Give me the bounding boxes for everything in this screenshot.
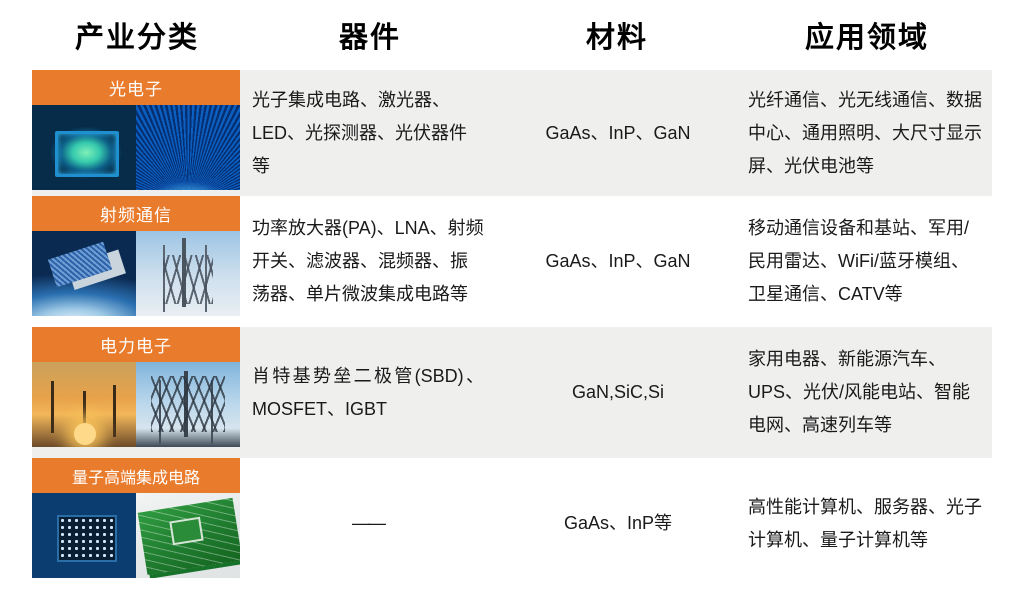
category-card: 射频通信 xyxy=(32,196,240,316)
column-header-industry-category: 产业分类 xyxy=(32,0,242,70)
cell-device: —— xyxy=(252,458,484,589)
category-card: 电力电子 xyxy=(32,327,240,447)
category-card: 量子高端集成电路 xyxy=(32,458,240,578)
wind-turbine-sunset-photo xyxy=(32,362,136,447)
category-banner-label: 电力电子 xyxy=(32,327,240,362)
cell-application: 家用电器、新能源汽车、UPS、光伏/风能电站、智能电网、高速列车等 xyxy=(748,327,986,458)
bga-chip-photo xyxy=(32,493,136,578)
cell-material: GaAs、InP等 xyxy=(498,458,738,589)
power-pylon-photo xyxy=(136,362,240,447)
cell-tower-photo xyxy=(136,231,240,316)
table-header-row: 产业分类 器件 材料 应用领域 xyxy=(0,0,1024,70)
cell-application: 高性能计算机、服务器、光子计算机、量子计算机等 xyxy=(748,458,986,589)
category-photo-pair xyxy=(32,362,240,447)
cell-device: 肖特基势垒二极管(SBD)、MOSFET、IGBT xyxy=(252,327,484,458)
category-photo-pair xyxy=(32,105,240,190)
category-photo-pair xyxy=(32,231,240,316)
cell-material: GaAs、InP、GaN xyxy=(498,196,738,327)
blue-circuit-chip-photo xyxy=(32,105,136,190)
category-banner-label: 射频通信 xyxy=(32,196,240,231)
green-pcb-photo xyxy=(136,493,240,578)
cell-application: 光纤通信、光无线通信、数据中心、通用照明、大尺寸显示屏、光伏电池等 xyxy=(748,70,986,196)
table-row: 电力电子 肖特基势垒二极管(SBD)、MOSFET、IGBT GaN,SiC,S… xyxy=(0,327,1024,458)
category-banner-label: 光电子 xyxy=(32,70,240,105)
table-row: 光电子 光子集成电路、激光器、LED、光探测器、光伏器件等 GaAs、InP、G… xyxy=(0,70,1024,196)
table-row: 射频通信 功率放大器(PA)、LNA、射频开关、滤波器、混频器、振荡器、单片微波… xyxy=(0,196,1024,327)
cell-material: GaAs、InP、GaN xyxy=(498,70,738,196)
category-photo-pair xyxy=(32,493,240,578)
table-row: 量子高端集成电路 —— GaAs、InP等 高性能计算机、服务器、光子计算机、量… xyxy=(0,458,1024,589)
column-header-material: 材料 xyxy=(498,0,736,70)
cell-device: 功率放大器(PA)、LNA、射频开关、滤波器、混频器、振荡器、单片微波集成电路等 xyxy=(252,196,484,327)
satellite-photo xyxy=(32,231,136,316)
cell-material: GaN,SiC,Si xyxy=(498,327,738,458)
category-banner-label: 量子高端集成电路 xyxy=(32,458,240,493)
column-header-application-field: 应用领域 xyxy=(742,0,992,70)
cell-application: 移动通信设备和基站、军用/民用雷达、WiFi/蓝牙模组、卫星通信、CATV等 xyxy=(748,196,986,327)
blue-light-beam-photo xyxy=(136,105,240,190)
category-card: 光电子 xyxy=(32,70,240,190)
cell-device: 光子集成电路、激光器、LED、光探测器、光伏器件等 xyxy=(252,70,484,196)
industry-classification-table: 产业分类 器件 材料 应用领域 光电子 光子集成电路、激光器、LED、光探测器、… xyxy=(0,0,1024,589)
column-header-device: 器件 xyxy=(250,0,490,70)
